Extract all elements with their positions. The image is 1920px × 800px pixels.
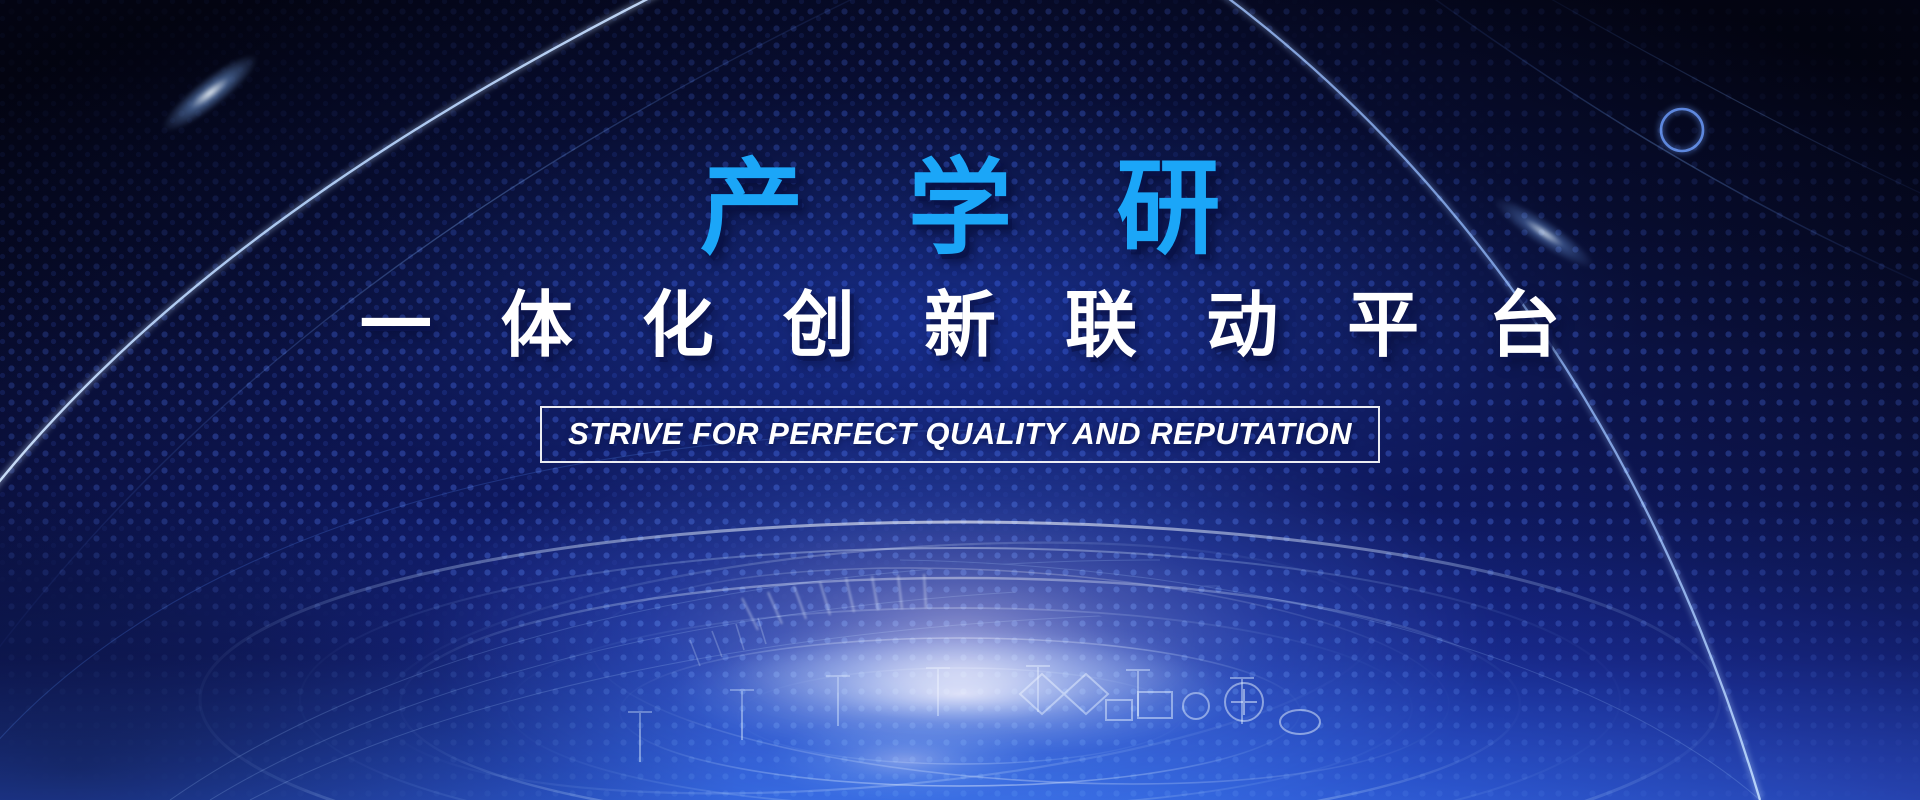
english-tagline-box: STRIVE FOR PERFECT QUALITY AND REPUTATIO… bbox=[540, 406, 1380, 463]
hud-ellipse-group bbox=[170, 507, 1760, 800]
english-tagline: STRIVE FOR PERFECT QUALITY AND REPUTATIO… bbox=[568, 418, 1352, 449]
hud-radar-disc bbox=[0, 0, 1920, 800]
tech-banner: 产 学 研 一 体 化 创 新 联 动 平 台 STRIVE FOR PERFE… bbox=[0, 0, 1920, 800]
